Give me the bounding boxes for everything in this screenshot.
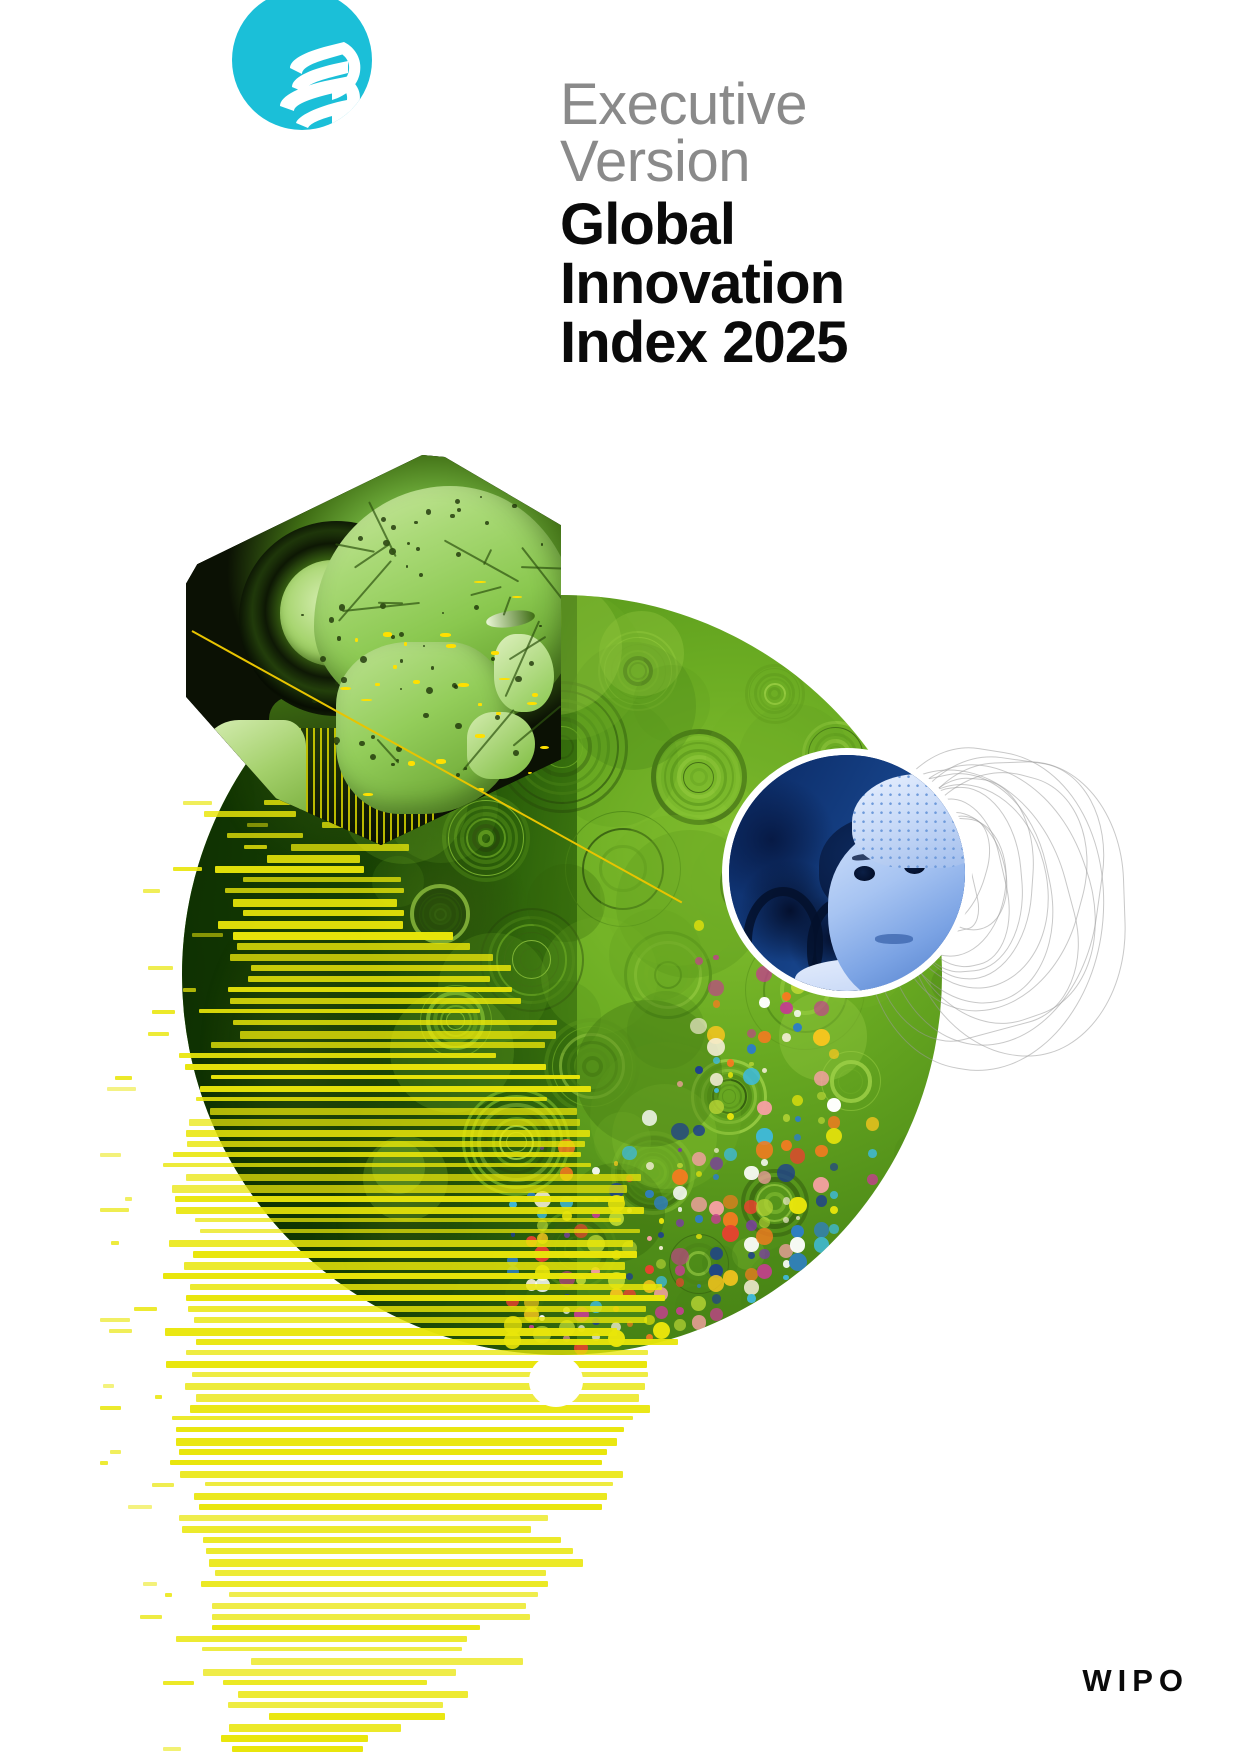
scanline-fragment (100, 1208, 129, 1212)
scanline-bar (182, 1526, 531, 1533)
eyebrow-line-1: Executive (560, 76, 980, 133)
globe-disc (527, 864, 605, 942)
scanline-bar (179, 1515, 548, 1521)
scanline-bar (232, 1746, 363, 1752)
robot-light-spark (355, 638, 358, 642)
scanline-fragment (152, 1010, 175, 1014)
robot-light-spark (413, 680, 420, 684)
robot-bolt (426, 687, 433, 694)
wipo-wordmark: WIPO (1082, 1663, 1189, 1699)
scanline-fragment (155, 1395, 162, 1399)
globe-aperture (529, 1355, 583, 1407)
globe-disc (627, 991, 705, 1069)
robot-light-spark (491, 651, 499, 654)
robot-bolt (360, 656, 367, 663)
scanline-fragment (152, 1483, 174, 1487)
scanline-bar (238, 1691, 468, 1698)
scanline-fragment (163, 1747, 180, 1751)
robot-bolt (301, 614, 303, 616)
scanline-fragment (111, 1241, 119, 1245)
robot-light-spark (383, 632, 393, 637)
scanline-bar (215, 1570, 546, 1576)
scanline-fragment (103, 1384, 114, 1388)
scanline-bar (194, 1493, 607, 1500)
robot-light-spark (340, 687, 352, 691)
robot-bolt (358, 536, 363, 541)
scanline-fragment (100, 1406, 121, 1410)
robot-bolt (391, 635, 395, 639)
robot-bolt (341, 677, 346, 682)
title-line-3: Index 2025 (560, 313, 980, 372)
robot-bolt (455, 723, 461, 729)
scanline-bar (228, 1702, 443, 1708)
scanline-bar (203, 1537, 561, 1543)
robot-bolt (515, 676, 521, 682)
scanline-fragment (115, 1076, 132, 1080)
robot-light-spark (363, 793, 373, 796)
scanline-fragment (143, 889, 160, 893)
globe-disc (505, 1275, 545, 1315)
robot-nose (494, 634, 554, 712)
robot-light-spark (475, 734, 485, 737)
globe-disc (594, 1112, 652, 1170)
scanline-fragment (100, 1461, 108, 1465)
scanline-fragment (125, 1197, 132, 1201)
robot-light-spark (440, 633, 451, 637)
robot-light-spark (393, 665, 397, 669)
robot-bolt (406, 565, 408, 567)
scanline-bar (199, 1504, 602, 1510)
robot-light-spark (408, 761, 415, 766)
scanline-bar (212, 1614, 530, 1620)
scanline-fragment (163, 1681, 194, 1685)
scanline-bar (202, 1647, 461, 1651)
scanline-fragment (165, 1593, 172, 1597)
scanline-bar (212, 1625, 480, 1630)
scanline-fragment (128, 1505, 151, 1509)
robot-light-spark (361, 699, 372, 701)
globe-disc (372, 1141, 425, 1194)
scanline-bar (203, 1669, 456, 1676)
scanline-bar (206, 1548, 573, 1554)
page-title: Global Innovation Index 2025 (560, 195, 980, 372)
robot-bolt (391, 525, 396, 530)
scanline-fragment (107, 1087, 136, 1091)
scanline-bar (223, 1680, 427, 1685)
robot-bolt (320, 656, 326, 662)
scanline-fragment (100, 1153, 121, 1157)
child-mouth (875, 934, 913, 943)
scanline-fragment (100, 1318, 130, 1322)
scanline-bar (201, 1581, 548, 1587)
robot-light-spark (527, 702, 537, 706)
globe-disc (702, 1245, 738, 1281)
child-portrait-circle-image (722, 748, 972, 998)
scanline-bar (180, 1471, 623, 1478)
robot-light-spark (532, 693, 538, 697)
robot-light-spark (436, 759, 446, 764)
globe-disc (894, 1132, 937, 1175)
robot-light-spark (458, 683, 469, 687)
globe-disc (675, 1286, 717, 1328)
robot-bolt (414, 521, 418, 525)
wipo-circle-logo (232, 0, 372, 130)
title-line-2: Innovation (560, 254, 980, 313)
robot-light-spark (446, 644, 456, 648)
robot-bolt (450, 514, 454, 518)
robot-bolt (431, 666, 435, 670)
robot-bolt (359, 741, 364, 746)
scanline-fragment (148, 966, 173, 970)
scanline-fragment (134, 1307, 157, 1311)
scanline-fragment (109, 1329, 132, 1333)
scanline-bar (221, 1735, 368, 1742)
robot-bolt (381, 517, 386, 522)
robot-bolt (329, 617, 335, 623)
robot-bolt (513, 750, 519, 756)
eyebrow-line-2: Version (560, 133, 980, 190)
scanline-bar (229, 1724, 401, 1732)
scanline-fragment (140, 1615, 162, 1619)
scanline-bar (179, 1449, 608, 1455)
robot-bolt (416, 547, 420, 551)
scanline-bar (209, 1559, 583, 1567)
title-block: Executive Version Global Innovation Inde… (560, 76, 980, 372)
scanline-bar (212, 1603, 526, 1609)
robot-light-spark (478, 703, 482, 705)
scanline-bar (172, 1416, 633, 1420)
scanline-bar (176, 1427, 625, 1432)
globe-disc (633, 665, 710, 742)
globe-disc (779, 992, 868, 1081)
scanline-fragment (110, 1450, 121, 1454)
robot-bolt (423, 713, 428, 718)
robot-bolt (391, 763, 394, 766)
scanline-bar (269, 1713, 445, 1720)
child-photo (729, 755, 965, 991)
globe-disc (741, 1243, 856, 1355)
cover-page: Executive Version Global Innovation Inde… (0, 0, 1239, 1754)
robot-light-spark (496, 712, 501, 715)
robot-bolt (512, 504, 516, 508)
scanline-bar (170, 1460, 603, 1465)
robot-light-spark (375, 683, 380, 686)
title-line-1: Global (560, 195, 980, 254)
scanline-bar (205, 1482, 613, 1486)
scanline-bar (176, 1438, 617, 1446)
scanline-bar (190, 1405, 650, 1413)
robot-light-spark (404, 642, 407, 645)
scanline-fragment (148, 1032, 168, 1036)
scanline-bar (251, 1658, 523, 1665)
globe-disc (372, 856, 424, 908)
globe-disc (864, 595, 897, 625)
scanline-bar (229, 1592, 538, 1597)
scanline-bar (176, 1636, 467, 1642)
robot-bolt (539, 625, 541, 627)
scanline-fragment (143, 1582, 156, 1586)
robot-bolt (400, 659, 403, 662)
cover-artwork (0, 400, 1239, 1500)
globe-disc (390, 989, 514, 1113)
